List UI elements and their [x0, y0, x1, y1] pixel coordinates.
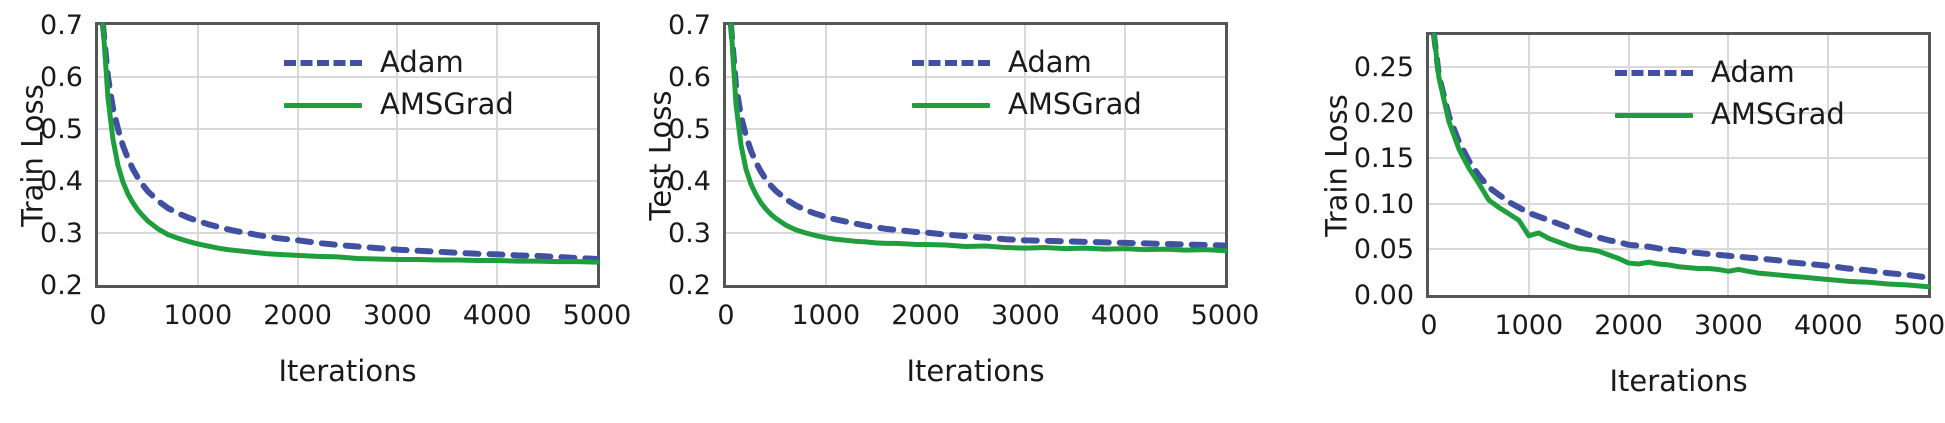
- series-line-adam: [731, 25, 1225, 245]
- x-axis-title-3: Iterations: [1426, 367, 1931, 396]
- y-tick-label: 0.05: [1295, 236, 1414, 263]
- legend-label-amsgrad: AMSGrad: [1008, 87, 1142, 121]
- y-axis-title-3: Train Loss: [1323, 76, 1352, 256]
- x-axis-title-2: Iterations: [723, 357, 1228, 386]
- legend-label-adam: Adam: [380, 45, 464, 79]
- plot-area-3: Adam AMSGrad: [1426, 32, 1931, 298]
- plot-area-1: Adam AMSGrad: [95, 22, 600, 288]
- figure-root: Adam AMSGrad 0.20.30.40.50.60.7 01000200…: [0, 0, 1945, 423]
- series-line-amsgrad: [731, 25, 1225, 251]
- adam-line-swatch-icon: [284, 60, 362, 66]
- legend-label-adam: Adam: [1008, 45, 1092, 79]
- y-axis-title-1: Train Loss: [19, 66, 48, 246]
- adam-line-swatch-icon: [1615, 70, 1693, 76]
- legend-label-amsgrad: AMSGrad: [1711, 97, 1845, 131]
- chart-panel-3: Adam AMSGrad 0.000.050.100.150.200.25 01…: [1295, 0, 1945, 423]
- y-tick-label: 0.7: [0, 12, 83, 39]
- y-tick-label: 0.2: [0, 272, 83, 299]
- legend-label-adam: Adam: [1711, 55, 1795, 89]
- plot-area-2: Adam AMSGrad: [723, 22, 1228, 288]
- amsgrad-line-swatch-icon: [1615, 113, 1693, 118]
- chart-panel-2: Adam AMSGrad 0.20.30.40.50.60.7 01000200…: [628, 0, 1276, 423]
- x-tick-label: 5000: [1848, 312, 1945, 339]
- chart-panel-1: Adam AMSGrad 0.20.30.40.50.60.7 01000200…: [0, 0, 648, 423]
- y-tick-label: 0.20: [1295, 100, 1414, 127]
- amsgrad-line-swatch-icon: [284, 103, 362, 108]
- legend-label-amsgrad: AMSGrad: [380, 87, 514, 121]
- y-tick-label: 0.10: [1295, 191, 1414, 218]
- y-axis-title-2: Test Loss: [647, 66, 676, 246]
- x-tick-label: 5000: [1145, 302, 1305, 329]
- y-tick-label: 0.25: [1295, 54, 1414, 81]
- y-tick-label: 0.15: [1295, 145, 1414, 172]
- y-tick-label: 0.00: [1295, 282, 1414, 309]
- y-tick-label: 0.2: [628, 272, 711, 299]
- y-tick-label: 0.7: [628, 12, 711, 39]
- amsgrad-line-swatch-icon: [912, 103, 990, 108]
- x-axis-title-1: Iterations: [95, 357, 600, 386]
- adam-line-swatch-icon: [912, 60, 990, 66]
